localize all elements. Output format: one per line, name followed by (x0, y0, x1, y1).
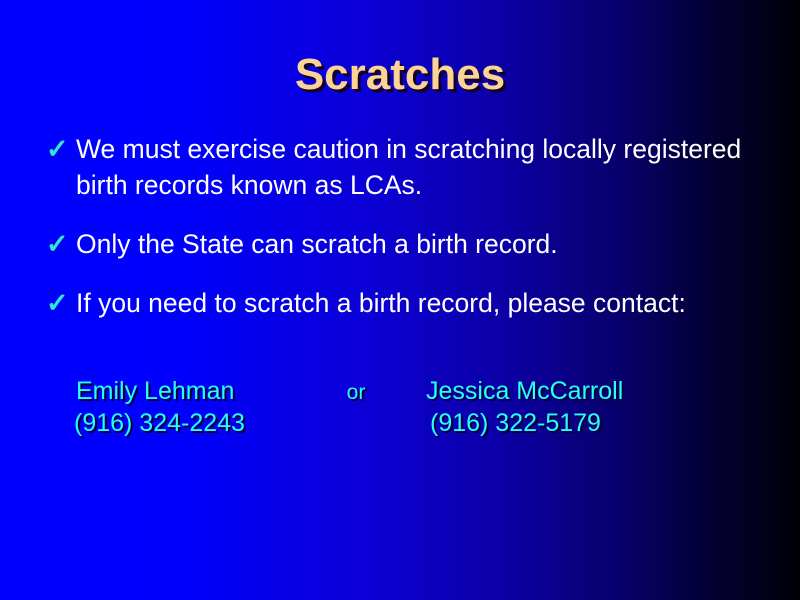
check-mark-icon: ✓ (46, 285, 76, 321)
list-item-text: We must exercise caution in scratching l… (76, 131, 762, 203)
contact-names-row: Emily Lehman or Jessica McCarroll (46, 376, 762, 408)
list-item-text: Only the State can scratch a birth recor… (76, 226, 762, 262)
bullet-list: ✓ We must exercise caution in scratching… (46, 131, 762, 321)
check-mark-icon: ✓ (46, 131, 76, 167)
contact-conjunction: or (296, 377, 416, 408)
list-item: ✓ Only the State can scratch a birth rec… (46, 226, 762, 262)
contact-name-primary: Emily Lehman (46, 376, 296, 407)
contact-phone-primary: (916) 324-2243 (46, 408, 296, 439)
contact-phones-row: (916) 324-2243 (916) 322-5179 (46, 408, 762, 439)
list-item-text: If you need to scratch a birth record, p… (76, 285, 762, 321)
contact-phone-secondary: (916) 322-5179 (416, 408, 762, 439)
contact-block: Emily Lehman or Jessica McCarroll (916) … (46, 376, 762, 439)
contact-name-secondary: Jessica McCarroll (416, 376, 762, 407)
page-title: Scratches (0, 52, 800, 98)
list-item: ✓ We must exercise caution in scratching… (46, 131, 762, 203)
list-item: ✓ If you need to scratch a birth record,… (46, 285, 762, 321)
presentation-slide: Scratches ✓ We must exercise caution in … (0, 0, 800, 600)
check-mark-icon: ✓ (46, 226, 76, 262)
